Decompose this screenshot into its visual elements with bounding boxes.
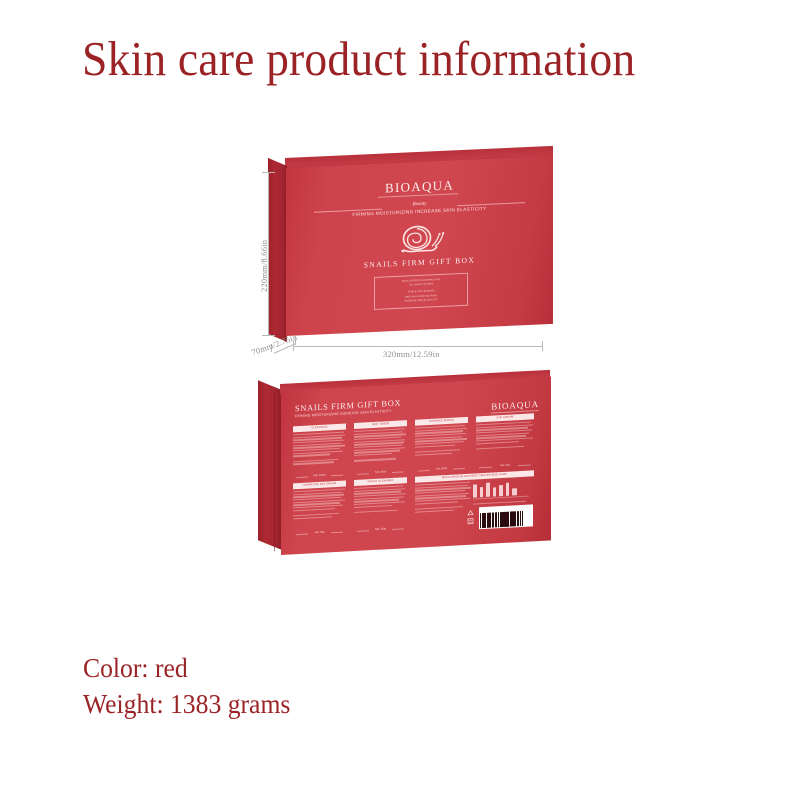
dim-width-label: 320mm/12.59in bbox=[383, 349, 440, 359]
back-block: HYDRATING DAY CREAM Net: 50g bbox=[293, 480, 346, 535]
bullet-item: COLLAGEN PROTEIN bbox=[409, 284, 433, 288]
box-back-face: SNAILS FIRM GIFT BOX FIRMING MOISTURIZIN… bbox=[281, 376, 551, 555]
bullet-item: INCREASE SKIN ELASTICITY bbox=[404, 299, 437, 304]
dim-height-label: 220mm/8.66in bbox=[259, 240, 269, 292]
box-back-side-panel bbox=[258, 380, 282, 550]
dim-height-tick-top bbox=[262, 172, 275, 173]
back-block-body bbox=[354, 428, 407, 462]
product-specs: Color: red Weight: 1383 grams bbox=[83, 651, 290, 722]
dim-height-tick-bottom bbox=[262, 335, 275, 336]
box-front-face: BIOAQUA Beauty FIRMING MOISTURIZING INCR… bbox=[286, 156, 553, 336]
back-block-body bbox=[476, 421, 534, 450]
product-lineup-illustration bbox=[473, 481, 517, 497]
box-front-side-panel bbox=[268, 158, 287, 342]
back-wide-block: MOISTURIZE BLACKHEAD TIGHTEN SKIN CARE bbox=[415, 470, 534, 534]
snail-icon bbox=[399, 223, 445, 260]
back-block-body bbox=[354, 485, 407, 513]
page-title: Skin care product information bbox=[82, 34, 635, 83]
product-box-front: BIOAQUA Beauty FIRMING MOISTURIZING INCR… bbox=[268, 158, 553, 343]
barcode: 6 941349 195483 bbox=[479, 504, 533, 529]
back-block-body bbox=[293, 488, 346, 519]
back-block: EYE CREAM Net: 20g bbox=[476, 413, 534, 468]
back-block: ESSENCE SERUM Net: 30ml bbox=[415, 417, 468, 472]
back-block-body bbox=[415, 425, 468, 456]
spec-weight: Weight: 1383 grams bbox=[83, 687, 290, 723]
box-back-lid-seam bbox=[274, 393, 275, 551]
back-block: SKIN TONER Net: 30ml bbox=[354, 420, 407, 475]
product-info-page: Skin care product information BIOAQUA Be… bbox=[0, 0, 800, 800]
back-block: CLEANSING Net: 100ml bbox=[293, 423, 346, 478]
spec-color: Color: red bbox=[83, 651, 290, 687]
back-block-net: Net: 100g bbox=[354, 526, 407, 532]
back-block: FACIAL CLEANSER Net: 100g bbox=[354, 477, 407, 532]
back-wide-block-body bbox=[415, 482, 472, 513]
back-block-body bbox=[293, 431, 346, 465]
recycle-icon bbox=[467, 510, 474, 531]
product-box-back: SNAILS FIRM GIFT BOX FIRMING MOISTURIZIN… bbox=[258, 384, 558, 569]
dim-width-line bbox=[293, 346, 543, 347]
back-block-net: Net: 30ml bbox=[354, 469, 407, 475]
dim-width-tick-right bbox=[542, 341, 543, 351]
front-bullet-list: SNAIL SECRETION EXTRACTION COLLAGEN PROT… bbox=[374, 273, 468, 310]
back-block-net: Net: 100ml bbox=[293, 472, 346, 478]
back-block-net: Net: 50g bbox=[293, 529, 346, 535]
back-block-net: Net: 20g bbox=[476, 462, 534, 468]
back-block-net: Net: 30ml bbox=[415, 466, 468, 472]
